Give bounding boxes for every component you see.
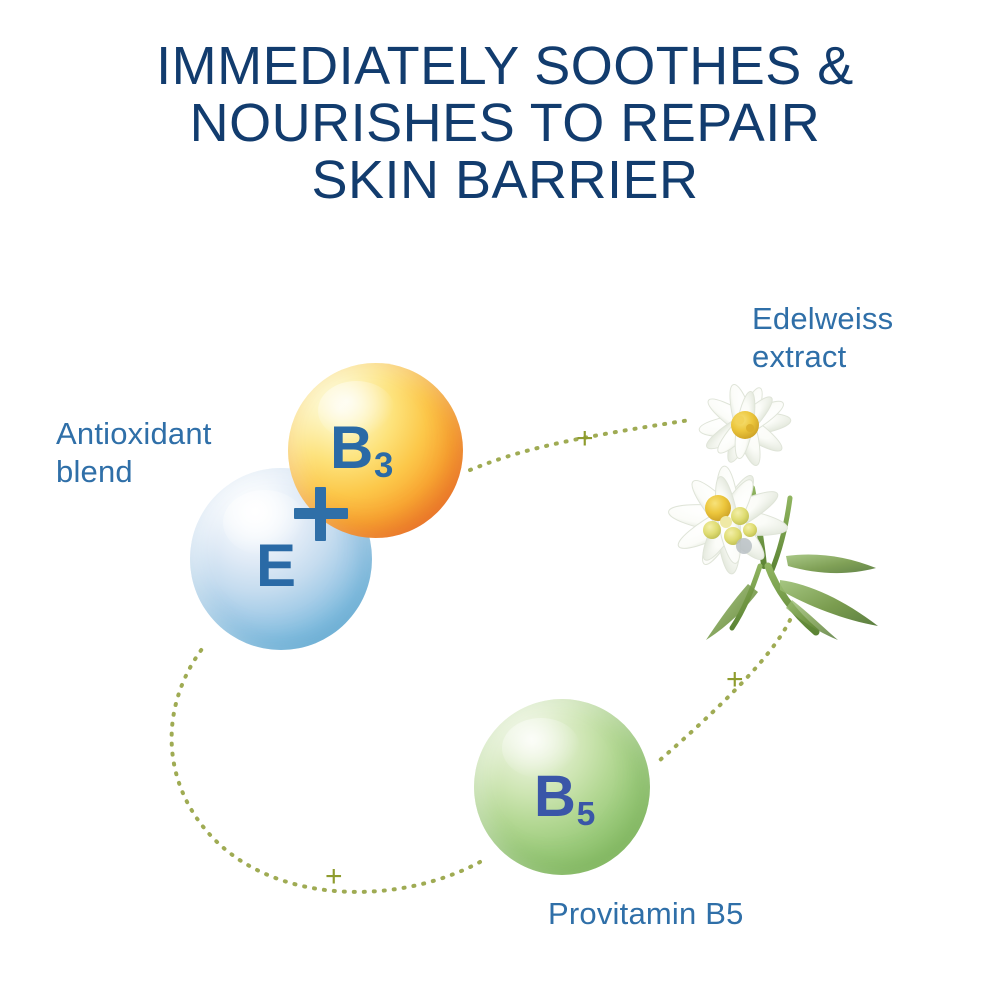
label-antioxidant-line-2: blend (56, 454, 133, 489)
plus-horizontal-bar (294, 508, 348, 519)
label-antioxidant-line-1: Antioxidant (56, 416, 212, 451)
plus-icon-between-spheres (294, 487, 348, 541)
arc-b5-to-e (172, 645, 480, 892)
sphere-label-b3-subscript: 3 (374, 446, 393, 485)
page-title: IMMEDIATELY SOOTHES & NOURISHES TO REPAI… (60, 38, 950, 209)
headline-line-1: IMMEDIATELY SOOTHES & (60, 38, 950, 95)
arc-edelweiss-to-b5 (660, 620, 790, 760)
label-edelweiss-line-1: Edelweiss (752, 301, 893, 336)
label-edelweiss-line-2: extract (752, 339, 846, 374)
sphere-label-b5-symbol: B (534, 764, 576, 829)
sphere-label-b3-symbol: B (330, 414, 373, 481)
sphere-label-e: E (256, 536, 296, 596)
sphere-label-b3: B3 (330, 418, 393, 478)
edelweiss-flower-image (640, 370, 900, 640)
label-edelweiss-extract: Edelweiss extract (752, 300, 982, 376)
headline-line-2: NOURISHES TO REPAIR (60, 95, 950, 152)
sphere-label-e-symbol: E (256, 532, 296, 599)
arc-plus-top-icon: + (576, 424, 594, 454)
headline-line-3: SKIN BARRIER (60, 152, 950, 209)
label-provitamin-b5: Provitamin B5 (548, 895, 848, 933)
arc-plus-bottom-icon: + (325, 862, 343, 892)
infographic-canvas: IMMEDIATELY SOOTHES & NOURISHES TO REPAI… (0, 0, 1000, 1000)
arc-plus-right-icon: + (726, 665, 744, 695)
sphere-label-b5-subscript: 5 (577, 796, 596, 833)
sphere-label-b5: B5 (534, 768, 595, 826)
edelweiss-flower-lower (667, 465, 789, 574)
edelweiss-flower-upper (698, 382, 792, 468)
flower-center-upper (731, 411, 759, 439)
